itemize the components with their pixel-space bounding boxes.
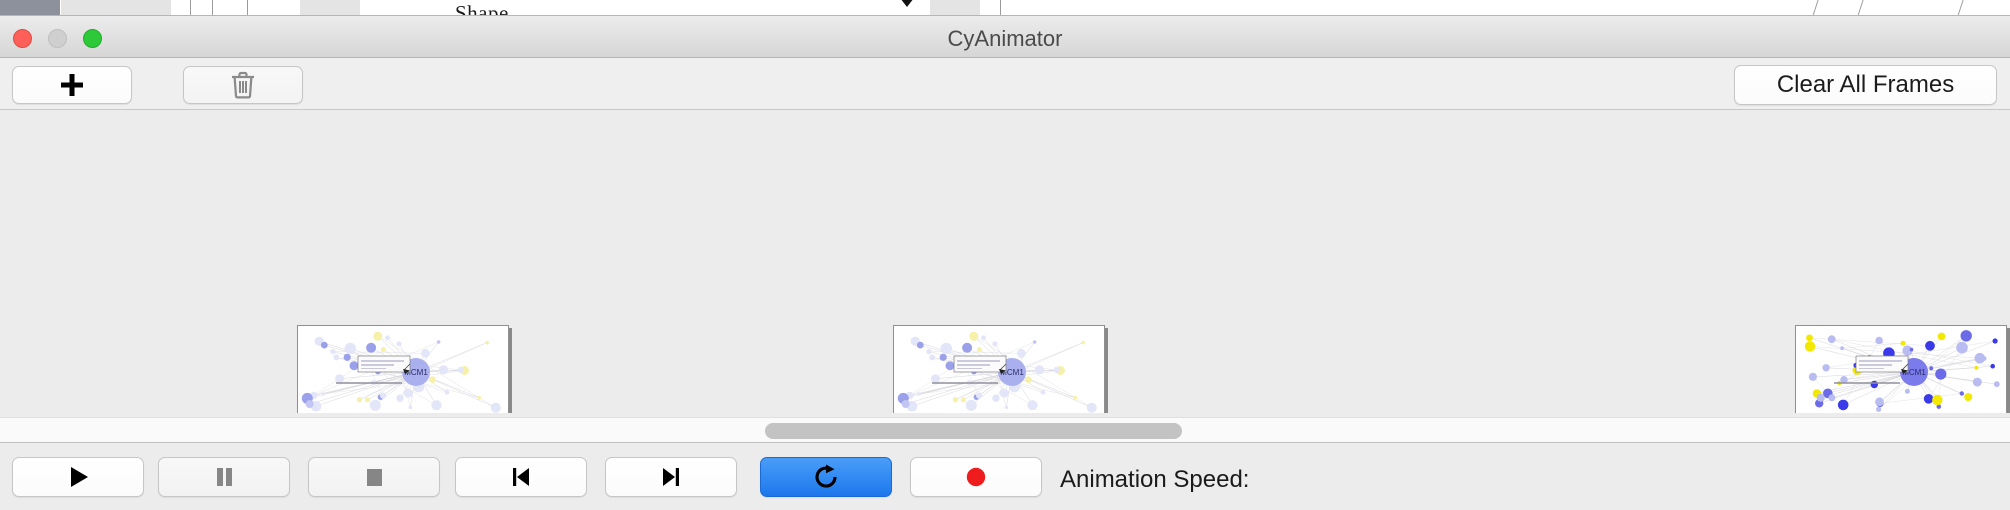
timeline-scrollbar-track[interactable]	[0, 417, 2010, 443]
play-button[interactable]	[12, 457, 144, 497]
pause-icon	[211, 464, 237, 490]
cyanimator-window: Shape CyAnimator	[0, 0, 2010, 510]
timeline-scrollbar-thumb[interactable]	[765, 423, 1182, 439]
bg-divider	[1000, 0, 1001, 16]
bg-divider	[212, 0, 213, 16]
window-title: CyAnimator	[0, 26, 2010, 52]
playback-toolbar: Animation Speed:	[0, 444, 2010, 510]
frame-thumbnail[interactable]: MCM1	[1795, 325, 2007, 413]
pause-button[interactable]	[158, 457, 290, 497]
bg-slash	[1957, 0, 1976, 16]
trash-icon	[230, 71, 256, 99]
bg-window-label: Shape	[455, 1, 509, 16]
frame-thumbnail[interactable]: MCM1	[893, 325, 1105, 413]
delete-frame-button[interactable]	[183, 66, 303, 104]
bg-divider	[247, 0, 248, 16]
skip-back-icon	[508, 464, 534, 490]
bg-slash	[1812, 0, 1831, 16]
bg-slash	[1857, 0, 1876, 16]
frame-thumbnail[interactable]: MCM1	[297, 325, 509, 413]
bg-divider	[190, 0, 191, 16]
title-bar[interactable]: CyAnimator	[0, 16, 2010, 58]
plus-icon	[58, 71, 86, 99]
clear-all-frames-button[interactable]: Clear All Frames	[1734, 65, 1997, 105]
loop-icon	[812, 463, 840, 491]
frame-toolbar: Clear All Frames	[0, 58, 2010, 110]
timeline-panel[interactable]: 2131415161718 MCM1	[0, 110, 2010, 413]
bg-block	[61, 0, 171, 16]
animation-speed-label: Animation Speed:	[1060, 466, 1249, 494]
add-frame-button[interactable]	[12, 66, 132, 104]
record-icon	[963, 464, 989, 490]
record-button[interactable]	[910, 457, 1042, 497]
bg-block	[0, 0, 60, 16]
bg-block	[930, 0, 980, 16]
skip-forward-icon	[658, 464, 684, 490]
background-window-strip: Shape	[0, 0, 2010, 16]
skip-to-end-button[interactable]	[605, 457, 737, 497]
loop-button[interactable]	[760, 457, 892, 497]
stop-button[interactable]	[308, 457, 440, 497]
play-icon	[65, 464, 91, 490]
stop-icon	[361, 464, 387, 490]
bg-block	[300, 0, 360, 16]
bg-caret-icon	[900, 0, 914, 7]
skip-to-start-button[interactable]	[455, 457, 587, 497]
